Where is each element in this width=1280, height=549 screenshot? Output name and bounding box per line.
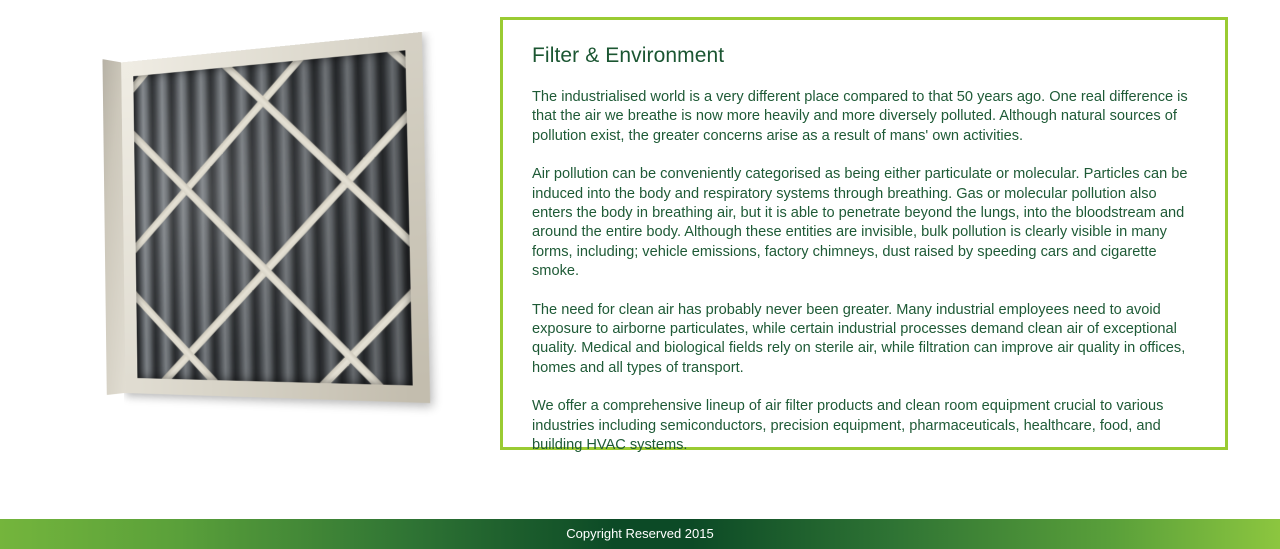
paragraph-clean-air-need: The need for clean air has probably neve… xyxy=(532,301,1197,379)
paragraph-product-lineup: We offer a comprehensive lineup of air f… xyxy=(532,397,1197,455)
filter-media-window xyxy=(133,50,412,385)
site-footer: Copyright Reserved 2015 xyxy=(0,519,1280,549)
air-filter-front-face xyxy=(120,32,431,403)
paragraph-air-pollution: Air pollution can be conveniently catego… xyxy=(532,165,1197,281)
product-image-figure xyxy=(0,0,500,470)
content-panel-inner: Filter & Environment The industrialised … xyxy=(503,20,1225,466)
air-filter-illustration xyxy=(95,35,455,435)
footer-copyright: Copyright Reserved 2015 xyxy=(0,526,1280,541)
air-filter-body xyxy=(120,32,431,403)
content-panel: Filter & Environment The industrialised … xyxy=(500,17,1228,450)
filter-cross-brace-mesh xyxy=(133,50,412,385)
paragraph-industrialised-world: The industrialised world is a very diffe… xyxy=(532,88,1197,146)
page-title: Filter & Environment xyxy=(532,44,1197,68)
